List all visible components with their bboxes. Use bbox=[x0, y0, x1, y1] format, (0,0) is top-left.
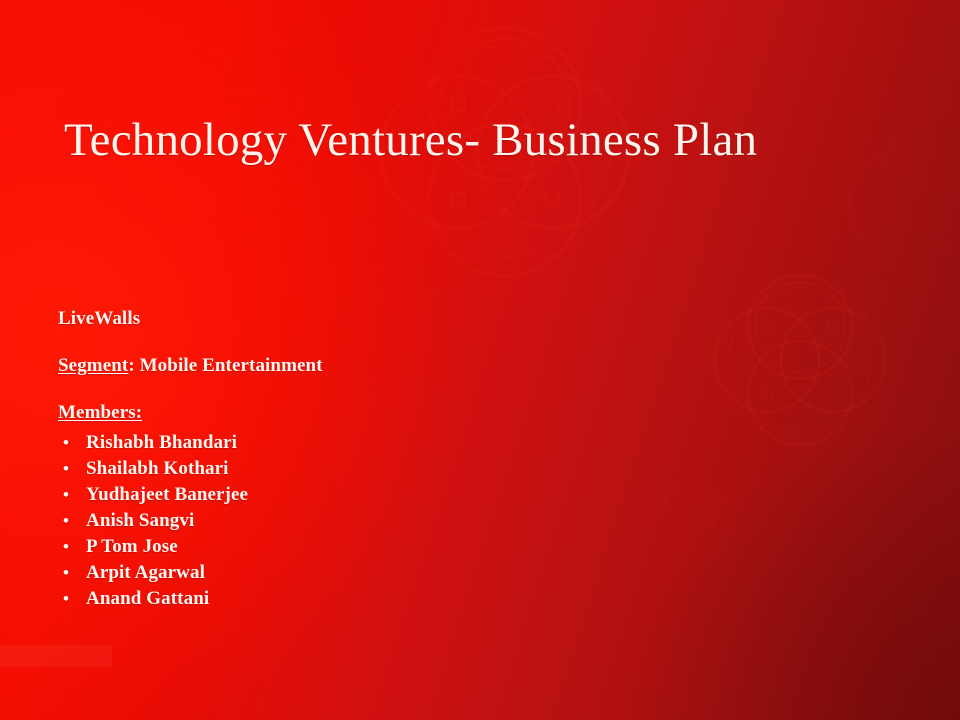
bullet-icon: • bbox=[63, 508, 69, 534]
list-item: •Anand Gattani bbox=[58, 586, 678, 612]
member-name: Rishabh Bhandari bbox=[86, 432, 237, 453]
list-item: •P Tom Jose bbox=[58, 534, 678, 560]
member-name: Arpit Agarwal bbox=[86, 562, 205, 583]
list-item: •Arpit Agarwal bbox=[58, 560, 678, 586]
quatrefoil-ornament-faint-far-right bbox=[849, 111, 960, 301]
bullet-icon: • bbox=[63, 456, 69, 482]
quatrefoil-ornament-right bbox=[715, 275, 885, 445]
member-name: Anish Sangvi bbox=[86, 510, 194, 531]
members-list: •Rishabh Bhandari•Shailabh Kothari•Yudha… bbox=[58, 430, 678, 612]
members-label: Members: bbox=[58, 401, 678, 425]
product-name: LiveWalls bbox=[58, 307, 678, 331]
presentation-slide: Technology Ventures- Business Plan LiveW… bbox=[0, 0, 960, 720]
segment-label: Segment bbox=[58, 355, 128, 376]
background-light-band-artifact bbox=[0, 645, 112, 667]
bullet-icon: • bbox=[63, 560, 69, 586]
member-name: Anand Gattani bbox=[86, 588, 209, 609]
list-item: •Shailabh Kothari bbox=[58, 456, 678, 482]
segment-line: Segment: Mobile Entertainment bbox=[58, 354, 678, 378]
title-block: Technology Ventures- Business Plan bbox=[64, 112, 864, 168]
list-item: •Rishabh Bhandari bbox=[58, 430, 678, 456]
member-name: P Tom Jose bbox=[86, 536, 178, 557]
segment-value: Mobile Entertainment bbox=[140, 355, 323, 376]
bullet-icon: • bbox=[63, 430, 69, 456]
member-name: Shailabh Kothari bbox=[86, 458, 229, 479]
segment-separator: : bbox=[128, 355, 139, 376]
bullet-icon: • bbox=[63, 534, 69, 560]
bullet-icon: • bbox=[63, 482, 69, 508]
slide-body: LiveWalls Segment: Mobile Entertainment … bbox=[58, 307, 678, 612]
list-item: •Anish Sangvi bbox=[58, 508, 678, 534]
bullet-icon: • bbox=[63, 586, 69, 612]
page-title: Technology Ventures- Business Plan bbox=[64, 112, 864, 168]
list-item: •Yudhajeet Banerjee bbox=[58, 482, 678, 508]
member-name: Yudhajeet Banerjee bbox=[86, 484, 248, 505]
